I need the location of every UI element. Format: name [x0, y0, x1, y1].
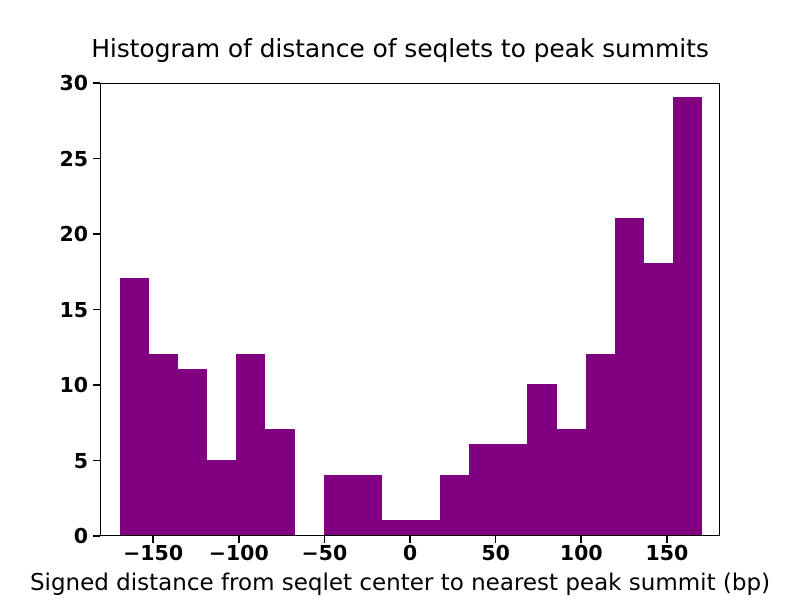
y-axis-tick-mark — [93, 535, 100, 537]
histogram-bar — [207, 460, 236, 536]
histogram-bar — [527, 384, 556, 535]
x-axis-tick-mark — [409, 536, 411, 543]
y-axis-tick-mark — [93, 158, 100, 160]
x-axis-tick-mark — [238, 536, 240, 543]
histogram-bar — [498, 444, 527, 535]
histogram-bar — [178, 369, 207, 535]
histogram-bar — [382, 520, 411, 535]
y-axis-tick-label: 15 — [59, 299, 88, 320]
y-axis-tick-label: 5 — [74, 450, 88, 471]
x-axis-tick-label: 150 — [645, 543, 688, 564]
x-axis-tick-mark — [324, 536, 326, 543]
x-axis-tick-label: −150 — [123, 543, 183, 564]
histogram-bar — [120, 278, 149, 535]
x-axis-tick-label: 50 — [481, 543, 510, 564]
histogram-bar — [469, 444, 498, 535]
y-axis-tick-label: 10 — [59, 375, 88, 396]
y-axis-tick-label: 20 — [59, 224, 88, 245]
y-axis-tick-label: 30 — [59, 73, 88, 94]
histogram-bar — [673, 97, 702, 535]
histogram-bar — [324, 475, 353, 535]
histogram-bars — [101, 84, 719, 535]
histogram-bar — [149, 354, 178, 535]
x-axis-tick-mark — [666, 536, 668, 543]
histogram-bar — [411, 520, 440, 535]
histogram-bar — [353, 475, 382, 535]
x-axis-tick-mark — [580, 536, 582, 543]
plot-area — [100, 83, 720, 536]
histogram-bar — [265, 429, 294, 535]
x-axis-tick-label: 100 — [560, 543, 603, 564]
y-axis-tick-mark — [93, 384, 100, 386]
histogram-figure: Histogram of distance of seqlets to peak… — [0, 0, 800, 600]
y-axis-tick-label: 0 — [74, 526, 88, 547]
x-axis-tick-label: −100 — [209, 543, 269, 564]
histogram-bar — [440, 475, 469, 535]
x-axis-tick-label: −50 — [302, 543, 348, 564]
histogram-bar — [644, 263, 673, 535]
histogram-bar — [236, 354, 265, 535]
x-axis-tick-mark — [152, 536, 154, 543]
histogram-bar — [586, 354, 615, 535]
y-axis-tick-mark — [93, 82, 100, 84]
x-axis-tick-mark — [495, 536, 497, 543]
x-axis-tick-label: 0 — [403, 543, 417, 564]
y-axis-tick-mark — [93, 460, 100, 462]
y-axis-tick-label: 25 — [59, 148, 88, 169]
x-axis-label: Signed distance from seqlet center to ne… — [0, 570, 800, 596]
histogram-bar — [557, 429, 586, 535]
y-axis-tick-mark — [93, 309, 100, 311]
y-axis-tick-mark — [93, 233, 100, 235]
chart-title: Histogram of distance of seqlets to peak… — [0, 34, 800, 63]
histogram-bar — [615, 218, 644, 535]
